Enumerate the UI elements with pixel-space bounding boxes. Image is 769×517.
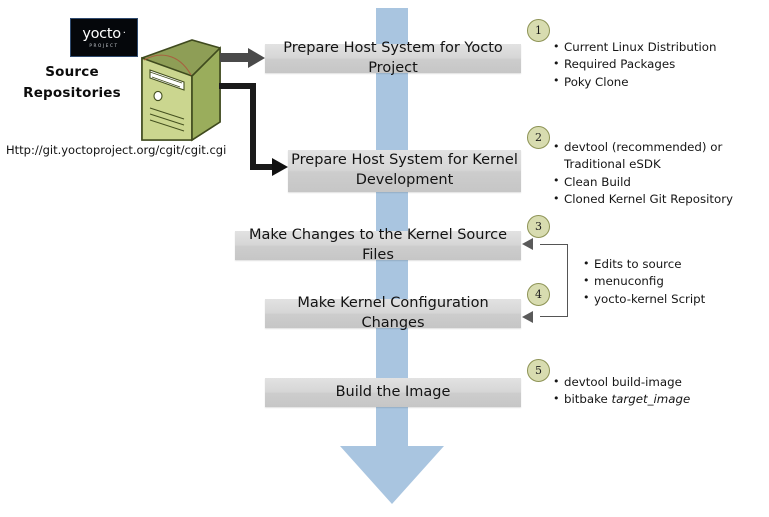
step-number-badge-5: 5: [527, 359, 550, 382]
connector-line-to-step1: [220, 53, 250, 62]
diagram-canvas: yocto· PROJECT Source Repositories Http:…: [0, 0, 769, 517]
yocto-project-logo: yocto· PROJECT: [70, 18, 138, 57]
feedback-arrow-to-step4-icon: [522, 311, 533, 323]
list-item: Current Linux Distribution: [553, 39, 763, 56]
process-box-step-4[interactable]: Make Kernel Configuration Changes: [265, 299, 521, 328]
flow-arrowhead-icon: [340, 446, 444, 504]
process-box-step-3[interactable]: Make Changes to the Kernel Source Files: [235, 231, 521, 260]
logo-subtext: PROJECT: [89, 44, 118, 48]
step-number-badge-1: 1: [527, 19, 550, 42]
bullet-list-step-5: devtool build-image bitbake target_image: [553, 374, 763, 409]
list-item: Poky Clone: [553, 74, 763, 91]
process-box-step-2[interactable]: Prepare Host System for Kernel Developme…: [288, 150, 521, 192]
connector-arrow-to-step2-icon: [272, 158, 288, 176]
source-label-line2: Repositories: [8, 83, 136, 104]
connector-line-to-step2-v: [250, 83, 256, 170]
logo-dot-icon: ·: [123, 28, 126, 39]
list-item: devtool (recommended) or Traditional eSD…: [553, 139, 763, 174]
feedback-bracket-steps-3-4: [540, 244, 568, 317]
feedback-arrow-to-step3-icon: [522, 238, 533, 250]
connector-arrow-to-step1-icon: [248, 48, 265, 68]
server-tower-icon: [136, 36, 224, 146]
step-number-badge-3: 3: [527, 215, 550, 238]
process-box-step-1[interactable]: Prepare Host System for Yocto Project: [265, 44, 521, 73]
list-item: Clean Build: [553, 174, 763, 191]
logo-wordmark: yocto·: [82, 27, 125, 42]
step-number-badge-2: 2: [527, 126, 550, 149]
list-item: bitbake target_image: [553, 391, 763, 408]
source-repositories-label: Source Repositories: [8, 62, 136, 104]
list-item: menuconfig: [583, 273, 758, 290]
list-item: yocto-kernel Script: [583, 291, 758, 308]
bullet-list-steps-3-4: Edits to source menuconfig yocto-kernel …: [583, 256, 758, 308]
list-item: Required Packages: [553, 56, 763, 73]
list-item: Cloned Kernel Git Repository: [553, 191, 763, 208]
bullet-list-step-1: Current Linux Distribution Required Pack…: [553, 39, 763, 91]
bullet-list-step-2: devtool (recommended) or Traditional eSD…: [553, 139, 763, 209]
source-label-line1: Source: [8, 62, 136, 83]
process-box-step-5[interactable]: Build the Image: [265, 378, 521, 407]
list-item: Edits to source: [583, 256, 758, 273]
list-item: devtool build-image: [553, 374, 763, 391]
